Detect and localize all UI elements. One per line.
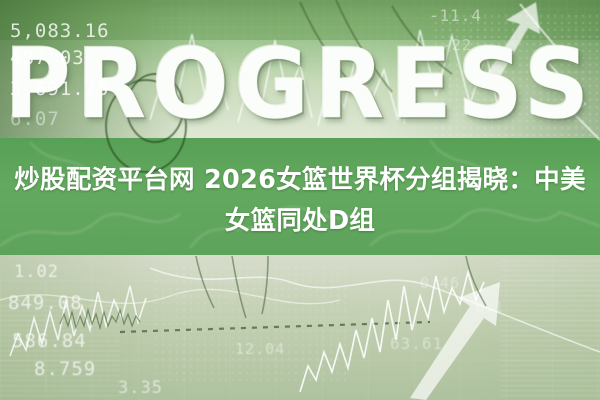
lower-ticker-value-5: 3.35 — [118, 378, 163, 398]
lower-ticker-value-1: 1.02 — [14, 262, 59, 282]
ticker-value-1: 5,083.16 — [10, 20, 110, 42]
lower-ticker-center-value-2: 63.61 — [390, 334, 443, 353]
ticker-value-4: 6.07 — [10, 108, 60, 130]
lower-ticker-center-value-1: 12.04 — [235, 340, 285, 358]
lower-ticker-right-value-2: 8.1 — [476, 300, 504, 316]
lower-ticker-value-2: 849.08 — [8, 292, 83, 314]
banner-image: PROGRESS 5,083.16 487.03 3,691.25 6.07 -… — [0, 0, 600, 400]
ticker-right-value-1: -11.4 — [429, 6, 482, 25]
ticker-value-3: 3,691.25 — [10, 78, 110, 100]
lower-ticker-value-4: 8.759 — [34, 358, 96, 380]
lower-ticker-value-3: 586.84 — [12, 330, 87, 352]
ticker-value-2: 487.03 — [10, 47, 85, 69]
lower-ticker-right-value-1: 0.46 — [420, 274, 460, 292]
headline-text: 炒股配资平台网 2026女篮世界杯分组揭晓：中美女篮同处D组 — [0, 160, 600, 242]
ticker-right-value-2: -22 — [442, 36, 472, 54]
